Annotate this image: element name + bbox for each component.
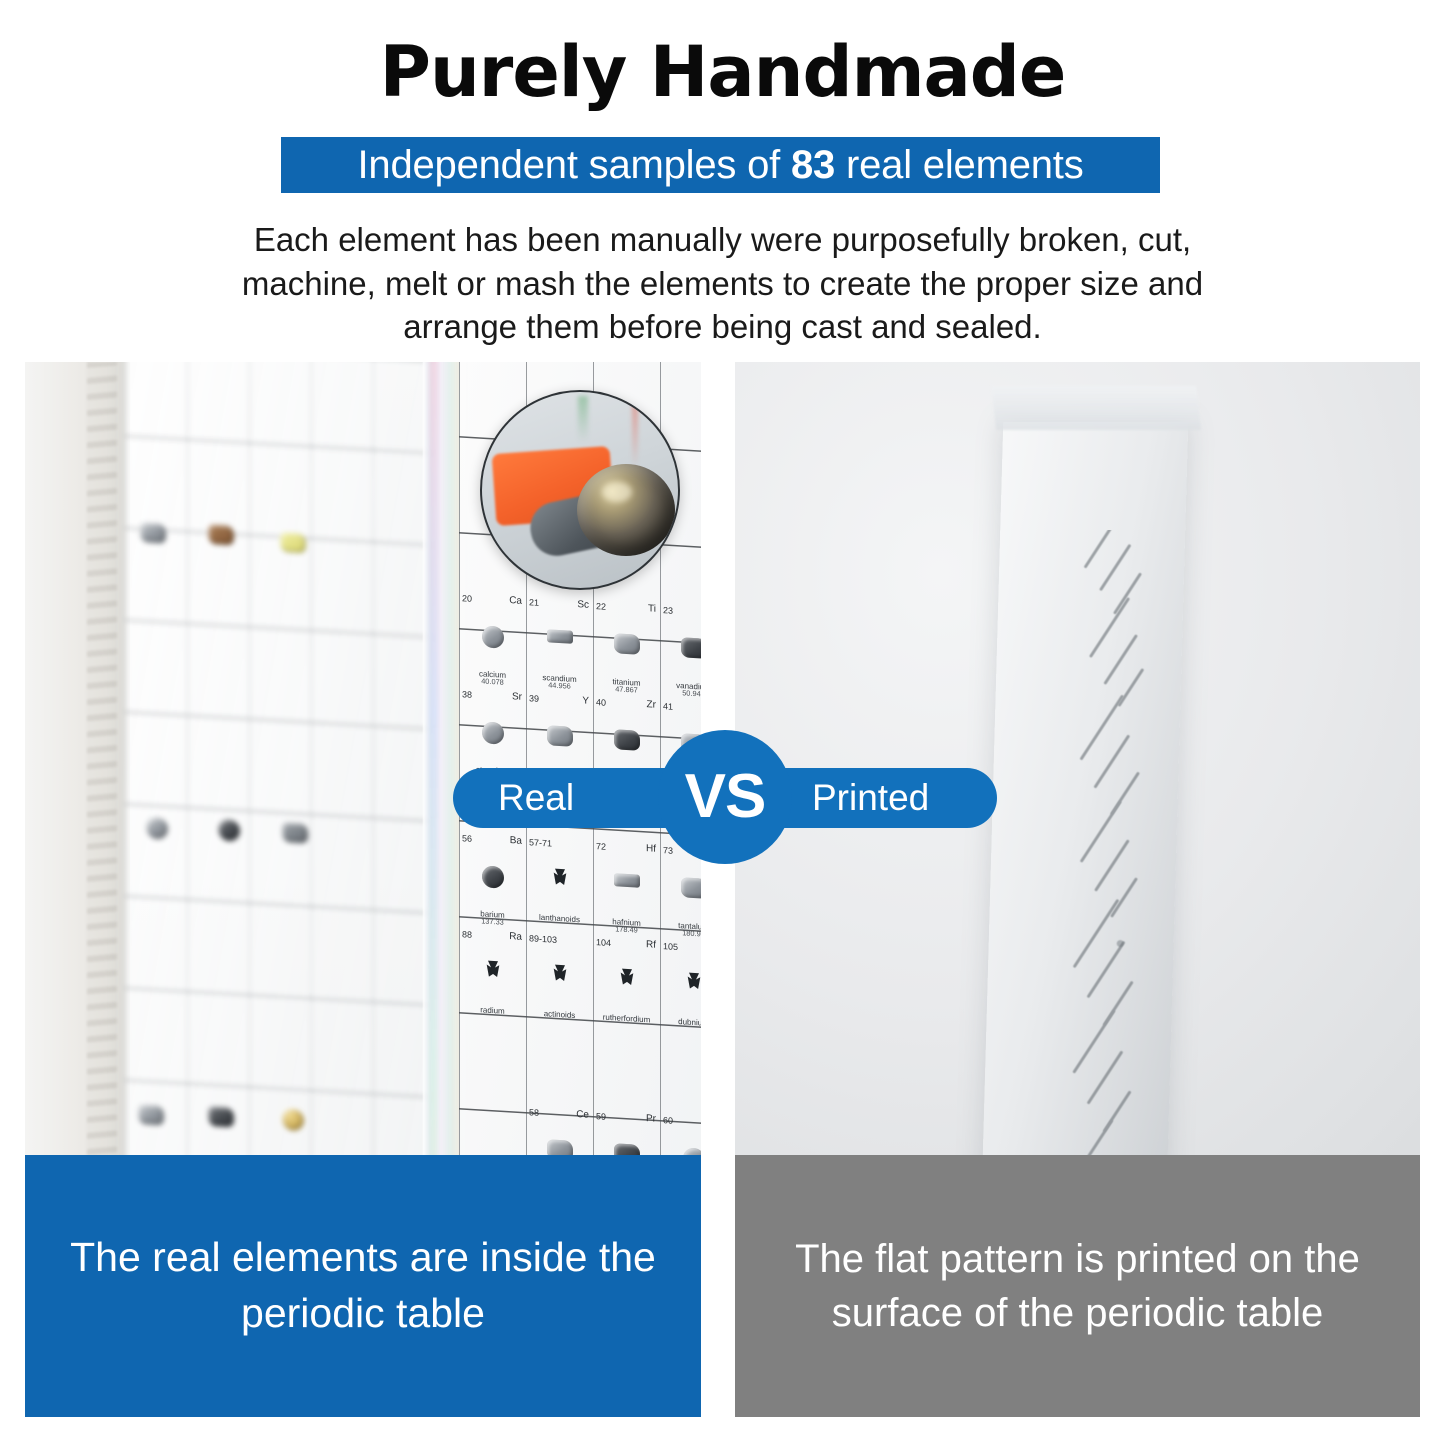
cell-number: 56 <box>462 833 472 844</box>
cell-number: 40 <box>596 697 606 708</box>
highlight-banner: Independent samples of 83 real elements <box>281 137 1160 193</box>
element-cell-sc: 21 Sc scandium 44.956 <box>526 594 593 694</box>
element-cell-zr: 40 Zr zirconium 91.224 <box>593 694 660 794</box>
cell-symbol: Sr <box>512 691 522 703</box>
cell-number: 59 <box>596 1111 606 1122</box>
element-cell-sr: 38 Sr strontium 87.62 <box>459 686 526 786</box>
cell-symbol: Ra <box>509 931 522 943</box>
element-sample-chip <box>547 725 573 747</box>
cell-number: 38 <box>462 689 472 700</box>
cell-number: 104 <box>596 937 611 948</box>
cell-name: niobium <box>660 776 701 789</box>
radioactive-icon <box>614 968 640 994</box>
highlight-banner-text: Independent samples of 83 real elements <box>357 145 1083 185</box>
cell-number: 20 <box>462 593 472 604</box>
element-cell-y: 39 Y yttrium 88.906 <box>526 690 593 790</box>
cell-number: 89-103 <box>529 933 557 945</box>
cell-number: 41 <box>663 701 673 712</box>
element-sample-chip <box>614 729 640 751</box>
element-sample-chip <box>482 865 504 888</box>
cell-number: 21 <box>529 597 539 608</box>
cell-symbol: Ti <box>648 603 656 614</box>
element-sample-chip <box>614 873 640 888</box>
cell-number: 22 <box>596 601 606 612</box>
caption-real: The real elements are inside the periodi… <box>25 1155 701 1417</box>
cell-number: 39 <box>529 693 539 704</box>
element-sample-chip <box>681 877 702 899</box>
element-cell-hf: 72 Hf hafnium 178.49 <box>593 838 660 938</box>
element-sample-chip <box>681 637 702 659</box>
magnified-metal-sphere <box>577 464 675 556</box>
banner-prefix: Independent samples of <box>357 143 791 187</box>
banner-count: 83 <box>791 143 835 187</box>
caption-printed: The flat pattern is printed on the surfa… <box>735 1155 1420 1417</box>
element-cell-v: 23 V vanadium 50.942 <box>660 602 701 702</box>
cell-number: 105 <box>663 941 678 952</box>
cell-number: 73 <box>663 845 673 856</box>
element-sample-chip <box>547 629 573 644</box>
element-sample-chip <box>614 633 640 655</box>
banner-suffix: real elements <box>835 143 1083 187</box>
block-top-face <box>991 386 1201 430</box>
magnifier-red-streak <box>632 398 638 468</box>
cell-number: 72 <box>596 841 606 852</box>
element-cell-ti: 22 Ti titanium 47.867 <box>593 598 660 698</box>
element-cell-lanthanoids: 57-71 lanthanoids <box>526 834 593 934</box>
cell-number: 57-71 <box>529 837 552 848</box>
radioactive-icon <box>547 868 573 894</box>
cell-number: 23 <box>663 605 673 616</box>
radioactive-icon <box>547 964 573 990</box>
element-cell-actinoids: 89-103 actinoids <box>526 930 593 1030</box>
magnifier-inset <box>480 390 680 590</box>
cell-number: 60 <box>663 1115 673 1126</box>
intro-paragraph: Each element has been manually were purp… <box>222 218 1223 349</box>
element-sample-chip <box>681 733 702 755</box>
cell-name: dubnium <box>660 1016 701 1029</box>
cell-symbol: Pr <box>646 1113 656 1125</box>
radioactive-icon <box>480 960 506 986</box>
cell-symbol: Ce <box>576 1109 589 1121</box>
cell-symbol: Zr <box>647 699 656 711</box>
cell-name: rutherfordium <box>593 1012 660 1025</box>
element-cell-ba: 56 Ba barium 137.33 <box>459 830 526 930</box>
cell-name: radium <box>459 1004 526 1017</box>
cell-name: lanthanoids <box>526 912 593 925</box>
element-sample-chip <box>482 625 504 648</box>
cell-number: 58 <box>529 1107 539 1118</box>
cell-symbol: Rf <box>646 939 656 951</box>
element-cell-db: 105 Db dubnium <box>660 938 701 1038</box>
element-cell-nb: 41 Nb niobium <box>660 698 701 798</box>
cell-symbol: Ba <box>510 835 522 847</box>
cell-symbol: Hf <box>646 843 656 855</box>
magnifier-green-streak <box>578 396 588 442</box>
element-cell-ra: 88 Ra radium <box>459 926 526 1026</box>
cell-symbol: Y <box>582 695 589 706</box>
cell-symbol: Ca <box>509 595 522 607</box>
element-cell-ca: 20 Ca calcium 40.078 <box>459 590 526 690</box>
element-cell-ta: 73 Ta tantalum 180.95 <box>660 842 701 942</box>
element-cell-rf: 104 Rf rutherfordium <box>593 934 660 1034</box>
cell-name: actinoids <box>526 1008 593 1021</box>
element-sample-chip <box>482 721 504 744</box>
cell-number: 88 <box>462 929 472 940</box>
infographic-page: Purely Handmade Independent samples of 8… <box>0 0 1445 1445</box>
radioactive-icon <box>681 972 702 998</box>
page-title: Purely Handmade <box>0 36 1445 110</box>
cell-symbol: Sc <box>577 599 589 611</box>
